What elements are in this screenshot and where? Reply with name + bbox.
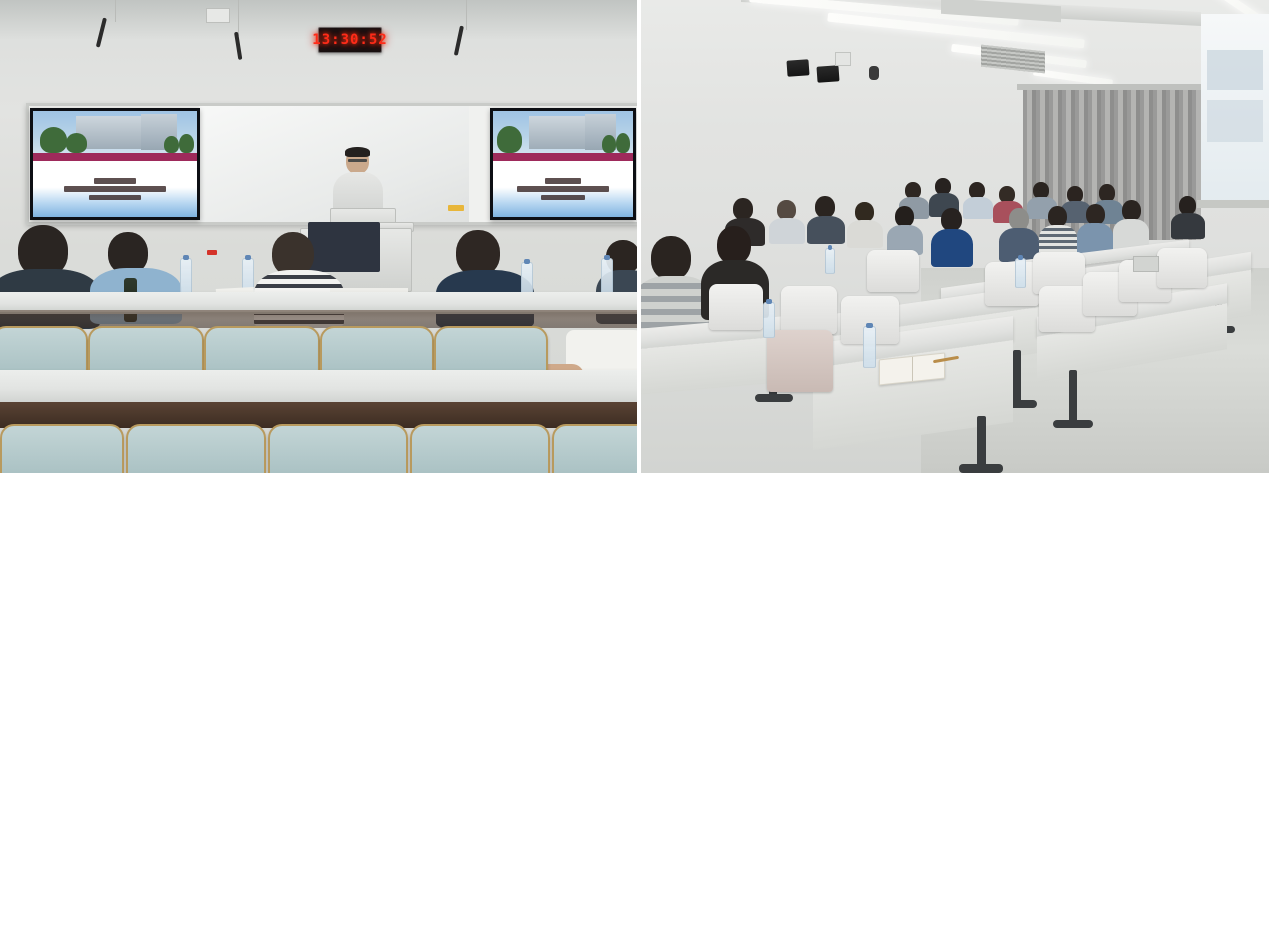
water-bottle [863, 326, 876, 368]
desk-foot [1053, 420, 1093, 428]
slide-org-line [94, 178, 137, 184]
audience-person [887, 206, 923, 252]
person-head [717, 226, 751, 264]
person-head [1122, 200, 1141, 221]
person-torso [847, 220, 883, 248]
wall-speaker [816, 65, 839, 82]
surveillance-camera-icon [869, 66, 879, 80]
desk-foot [755, 394, 793, 402]
chair [867, 250, 919, 292]
slide-banner-photo [33, 111, 197, 153]
person-head [941, 208, 962, 231]
chair [126, 424, 266, 473]
water-bottle [825, 248, 835, 274]
tree-icon [179, 134, 194, 153]
audience-person [769, 200, 805, 242]
person-head [733, 198, 753, 220]
slide-title-line [517, 186, 609, 192]
desk-foot [959, 464, 1003, 473]
right-projection-screen [490, 108, 636, 220]
bottle-cap [828, 245, 832, 250]
chair [985, 262, 1039, 306]
curtain-rail [1017, 84, 1205, 90]
chair [767, 330, 833, 392]
person-head [1086, 204, 1105, 225]
water-bottle [180, 258, 192, 294]
photo-top-right [641, 0, 1269, 473]
person-head [815, 196, 835, 218]
person-head [651, 236, 691, 280]
water-bottle [601, 258, 613, 294]
audience-person [999, 208, 1039, 258]
chair [410, 424, 550, 473]
desk-row-3 [0, 370, 637, 406]
tree-icon [602, 135, 616, 154]
presenter-hair [345, 147, 370, 157]
window-pane [1207, 100, 1263, 142]
bottle-cap [245, 255, 251, 260]
tree-icon [40, 127, 68, 153]
campus-building [529, 116, 593, 149]
chair [552, 424, 637, 473]
audience-person [931, 208, 973, 264]
mic-wire [238, 0, 239, 36]
window-sill [1197, 200, 1269, 208]
marker-pen [207, 250, 217, 255]
person-head [1048, 206, 1067, 227]
left-projection-screen [30, 108, 200, 220]
bottle-cap [1018, 255, 1023, 260]
photo-top-left: 13:30:52 [0, 0, 637, 473]
person-torso [769, 218, 805, 244]
bottle-cap [183, 255, 189, 260]
slide-banner-photo [493, 111, 633, 153]
chair [1157, 248, 1207, 288]
water-bottle [521, 262, 533, 296]
glasses-icon [348, 159, 367, 162]
person-head [895, 206, 914, 227]
bottle-cap [524, 259, 530, 264]
chair [0, 424, 124, 473]
audience-person [847, 202, 883, 246]
wall-outlet [206, 8, 230, 23]
person-head [777, 200, 796, 220]
tree-icon [497, 126, 522, 153]
slide-date-line [541, 195, 586, 200]
slide-right [493, 111, 633, 217]
person-torso [931, 229, 973, 267]
chair [268, 424, 408, 473]
bottle-cap [766, 299, 772, 304]
slide-date-line [89, 195, 141, 200]
person-head [1009, 208, 1029, 230]
gutter-horizontal [0, 477, 1269, 950]
bottle-cap [604, 255, 610, 260]
desk-front-2 [0, 310, 637, 328]
person-head [855, 202, 874, 222]
audience-person [1113, 200, 1149, 248]
slide-left [33, 111, 197, 217]
mic-wire [115, 0, 116, 22]
window [1201, 14, 1269, 206]
water-bottle [1015, 258, 1026, 288]
audience-person [1077, 204, 1113, 252]
slide-org-line [545, 178, 581, 184]
mic-wire [466, 0, 467, 30]
equipment-box [1133, 256, 1159, 272]
audience-person [1171, 196, 1205, 236]
slide-text-block [493, 161, 633, 217]
photo-collage: 13:30:52 [0, 0, 1269, 950]
person-torso [1171, 213, 1205, 239]
wall-outlet [835, 52, 851, 66]
wall-speaker [786, 59, 809, 76]
audience-person [807, 196, 845, 242]
tree-icon [616, 133, 630, 153]
bottle-cap [866, 323, 872, 328]
slide-text-block [33, 161, 197, 217]
chair [781, 286, 837, 334]
marker-pen [448, 205, 464, 211]
chair [709, 284, 763, 330]
water-bottle [763, 302, 775, 338]
tree-icon [164, 136, 179, 154]
slide-title-line [64, 186, 166, 192]
digital-clock-display: 13:30:52 [318, 27, 382, 53]
tree-icon [66, 133, 87, 153]
slide-accent-bar [33, 153, 197, 160]
window-pane [1207, 50, 1263, 90]
audience-person [1039, 206, 1077, 254]
slide-accent-bar [493, 153, 633, 160]
person-torso [807, 216, 845, 244]
